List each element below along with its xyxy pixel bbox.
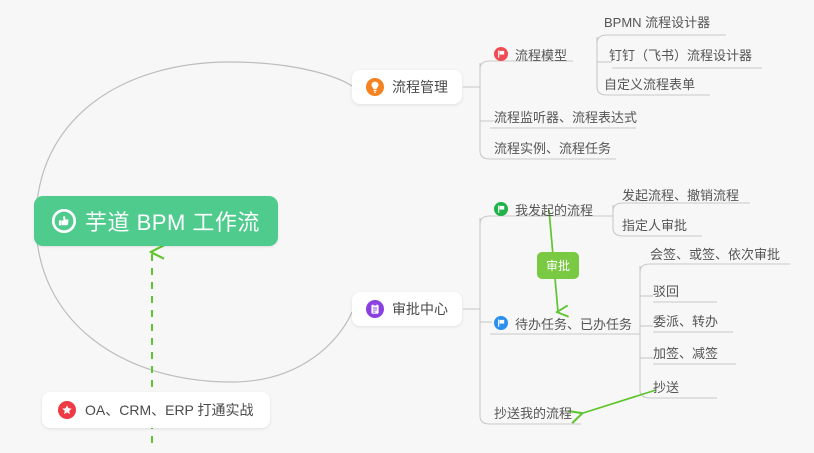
branch-node-process-management[interactable]: 流程管理 bbox=[352, 70, 462, 104]
leaf-node-start-cancel[interactable]: 发起流程、撤销流程 bbox=[622, 186, 739, 206]
leaf-label-dingtalk-designer: 钉钉（飞书）流程设计器 bbox=[609, 48, 752, 63]
leaf-label-cc: 抄送 bbox=[653, 380, 679, 395]
branch-label-process-management: 流程管理 bbox=[392, 77, 448, 97]
l2-node-process-listener[interactable]: 流程监听器、流程表达式 bbox=[494, 108, 637, 128]
leaf-node-assignee-approval[interactable]: 指定人审批 bbox=[622, 216, 687, 236]
root-node[interactable]: 芋道 BPM 工作流 bbox=[34, 196, 278, 246]
connector-todo-leaf-1 bbox=[640, 264, 650, 272]
connector-ac-spine bbox=[474, 218, 480, 416]
leaf-label-countersign: 会签、或签、依次审批 bbox=[650, 247, 780, 262]
flag-icon bbox=[494, 202, 508, 216]
clipboard-icon bbox=[366, 300, 384, 318]
leaf-label-start-cancel: 发起流程、撤销流程 bbox=[622, 188, 739, 203]
l2-label-process-instance: 流程实例、流程任务 bbox=[494, 141, 611, 156]
branch-node-approval-center[interactable]: 审批中心 bbox=[352, 292, 462, 326]
l2-label-process-listener: 流程监听器、流程表达式 bbox=[494, 110, 637, 125]
flag-icon bbox=[494, 47, 508, 61]
mindmap-canvas: 芋道 BPM 工作流 OA、CRM、ERP 打通实战 流程管理 bbox=[0, 0, 814, 453]
flag-icon bbox=[494, 316, 508, 330]
l2-node-my-initiated[interactable]: 我发起的流程 bbox=[494, 198, 593, 220]
leaf-label-custom-form: 自定义流程表单 bbox=[604, 77, 695, 92]
connector-pm-branch-model bbox=[480, 61, 490, 69]
thumbs-up-icon bbox=[52, 209, 76, 233]
connector-ac-branch-initiated bbox=[480, 216, 490, 224]
connector-pm-spine bbox=[474, 63, 480, 151]
root-label: 芋道 BPM 工作流 bbox=[85, 205, 260, 237]
leaf-node-countersign[interactable]: 会签、或签、依次审批 bbox=[650, 245, 780, 265]
note-node-oa-crm-erp[interactable]: OA、CRM、ERP 打通实战 bbox=[42, 392, 270, 428]
leaf-node-add-remove-sign[interactable]: 加签、减签 bbox=[653, 344, 718, 364]
l2-label-cc-to-me: 抄送我的流程 bbox=[494, 406, 572, 421]
connector-model-leaf-1 bbox=[597, 35, 607, 43]
lightbulb-icon bbox=[366, 78, 384, 96]
connector-root-to-approval-center bbox=[36, 222, 352, 382]
l2-node-process-instance[interactable]: 流程实例、流程任务 bbox=[494, 139, 611, 159]
callout-approval-label: 审批 bbox=[546, 259, 570, 273]
l2-node-cc-to-me[interactable]: 抄送我的流程 bbox=[494, 404, 572, 424]
l2-node-process-model[interactable]: 流程模型 bbox=[494, 43, 567, 65]
leaf-label-delegate-transfer: 委派、转办 bbox=[653, 314, 718, 329]
leaf-node-reject[interactable]: 驳回 bbox=[653, 282, 679, 302]
leaf-label-reject: 驳回 bbox=[653, 284, 679, 299]
leaf-label-add-remove-sign: 加签、减签 bbox=[653, 346, 718, 361]
l2-label-todo-done-tasks: 待办任务、已办任务 bbox=[515, 314, 632, 333]
l2-label-my-initiated: 我发起的流程 bbox=[515, 200, 593, 219]
leaf-label-assignee-approval: 指定人审批 bbox=[622, 218, 687, 233]
leaf-node-custom-form[interactable]: 自定义流程表单 bbox=[604, 75, 695, 95]
connector-pm-branch-instance bbox=[480, 151, 490, 159]
l2-label-process-model: 流程模型 bbox=[515, 45, 567, 64]
arrow-cc-to-ccflow bbox=[580, 390, 656, 414]
callout-approval[interactable]: 审批 bbox=[537, 252, 579, 279]
l2-node-todo-done-tasks[interactable]: 待办任务、已办任务 bbox=[494, 312, 632, 334]
leaf-node-cc[interactable]: 抄送 bbox=[653, 378, 679, 398]
leaf-label-bpmn-designer: BPMN 流程设计器 bbox=[604, 15, 710, 30]
leaf-node-delegate-transfer[interactable]: 委派、转办 bbox=[653, 312, 718, 332]
leaf-node-bpmn-designer[interactable]: BPMN 流程设计器 bbox=[604, 13, 710, 33]
connector-ac-branch-cc bbox=[480, 416, 490, 424]
note-label: OA、CRM、ERP 打通实战 bbox=[85, 400, 254, 420]
branch-label-approval-center: 审批中心 bbox=[392, 299, 448, 319]
leaf-node-dingtalk-designer[interactable]: 钉钉（飞书）流程设计器 bbox=[609, 46, 752, 66]
star-icon bbox=[58, 401, 76, 419]
